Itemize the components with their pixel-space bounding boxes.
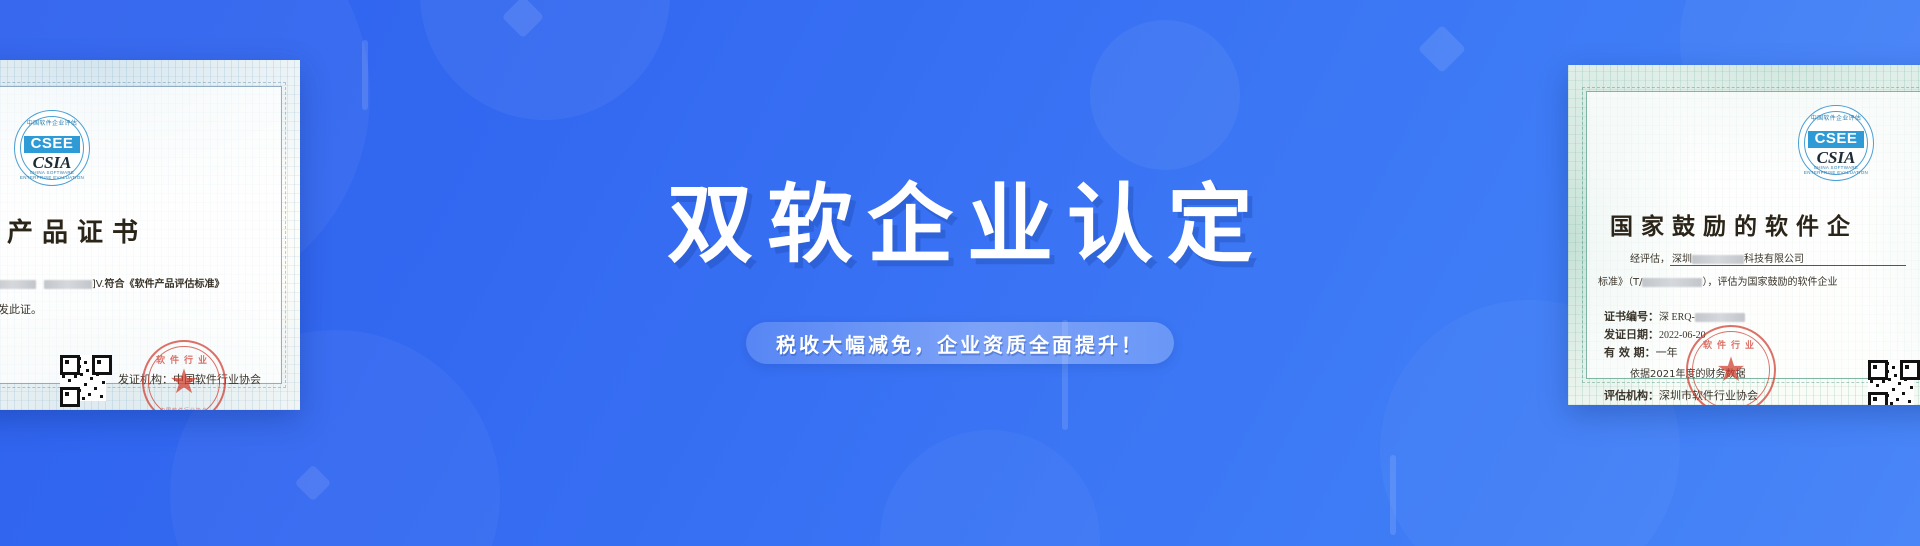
red-seal-stamp-right: 软件行业 ★ — [1686, 325, 1776, 405]
certificate-right-body-line-2: 标准》（T/），评估为国家鼓励的软件企业 — [1598, 273, 1837, 288]
seal-arc-bottom-text: CHINA SOFTWARE ENTERPRISE EVALUATION — [1799, 165, 1873, 175]
certificate-right-issuer-label: 评估机构： — [1604, 389, 1659, 402]
cert-right-company-prefix: 深圳 — [1672, 254, 1692, 265]
csee-csia-seal-right: 中国软件企业评估 CSEE CSIA CHINA SOFTWARE ENTERP… — [1798, 105, 1874, 181]
field-value-cert-no: 深 ERQ- — [1659, 312, 1695, 323]
page-title: 双软企业认定 — [653, 182, 1267, 268]
certificate-right-body-line-1: 经评估，深圳科技有限公司 — [1630, 250, 1906, 266]
cert-right-line2-suffix: ），评估为国家鼓励的软件企业 — [1702, 277, 1837, 288]
cert-right-line2-prefix: 标准》（T/ — [1598, 277, 1642, 288]
certificate-right-title: 国家鼓励的软件企 — [1610, 207, 1858, 241]
seal-mark-csee: CSEE — [1799, 130, 1873, 147]
star-icon: ★ — [1716, 353, 1746, 387]
field-label-validity: 有 效 期： — [1604, 346, 1656, 359]
certificate-right-field-2: 有 效 期：一年 — [1604, 344, 1678, 360]
seal-arc-top-text: 中国软件企业评估 — [1799, 113, 1873, 122]
promo-banner: 中国软件企业评估 CSEE CSIA CHINA SOFTWARE ENTERP… — [0, 0, 1920, 546]
stamp-text-right: 软件行业 — [1688, 338, 1774, 351]
field-label-issue-date: 发证日期： — [1604, 328, 1659, 341]
qr-code-right — [1868, 360, 1914, 405]
field-value-validity: 一年 — [1656, 346, 1678, 359]
cert-right-company-suffix: 科技有限公司 — [1744, 254, 1804, 265]
certificate-right-field-0: 证书编号：深 ERQ- — [1604, 308, 1745, 324]
certificate-right: 中国软件企业评估 CSEE CSIA CHINA SOFTWARE ENTERP… — [1568, 65, 1920, 405]
field-label-cert-no: 证书编号： — [1604, 310, 1659, 323]
cert-right-line1-prefix: 经评估， — [1630, 254, 1670, 265]
subtitle-pill-label: 税收大幅减免，企业资质全面提升！ — [776, 329, 1144, 358]
subtitle-pill: 税收大幅减免，企业资质全面提升！ — [746, 322, 1174, 364]
